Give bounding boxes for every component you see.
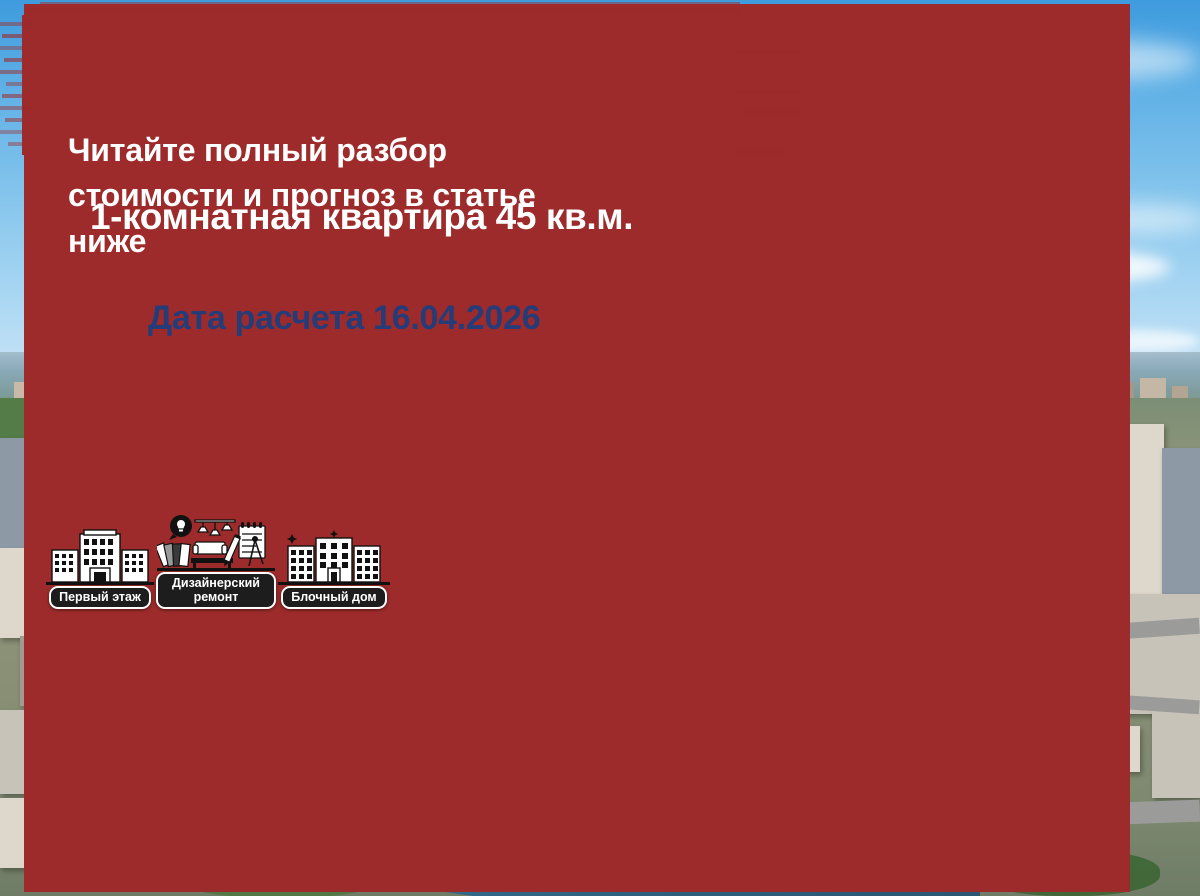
interior-design-icon [157, 514, 275, 576]
badge-label: Первый этаж [49, 586, 151, 609]
cta-line-3: ниже [68, 219, 810, 264]
badge-first-floor: Первый этаж [46, 528, 154, 609]
badge-label: Блочный дом [281, 586, 386, 609]
badge-label: Дизайнерский ремонт [156, 572, 276, 609]
cta-text: Читайте полный разбор стоимости и прогно… [0, 112, 810, 264]
cta-line-2: стоимости и прогноз в статье [68, 173, 810, 218]
feature-badges: Первый этаж [46, 514, 390, 609]
apartment-block-icon [278, 528, 390, 590]
cta-banner: Читайте полный разбор стоимости и прогно… [0, 112, 810, 292]
badge-designer-renovation: Дизайнерский ремонт [156, 514, 276, 609]
badge-block-house: Блочный дом [278, 528, 390, 609]
poster-canvas: MapEstate КАРТА НЕДВИЖИМОСТИ ТВОЕГО ГОРО… [0, 0, 1200, 896]
calculation-date-text: Дата расчета 16.04.2026 [148, 299, 540, 338]
office-building-icon [46, 528, 154, 590]
cta-line-1: Читайте полный разбор [68, 128, 810, 173]
